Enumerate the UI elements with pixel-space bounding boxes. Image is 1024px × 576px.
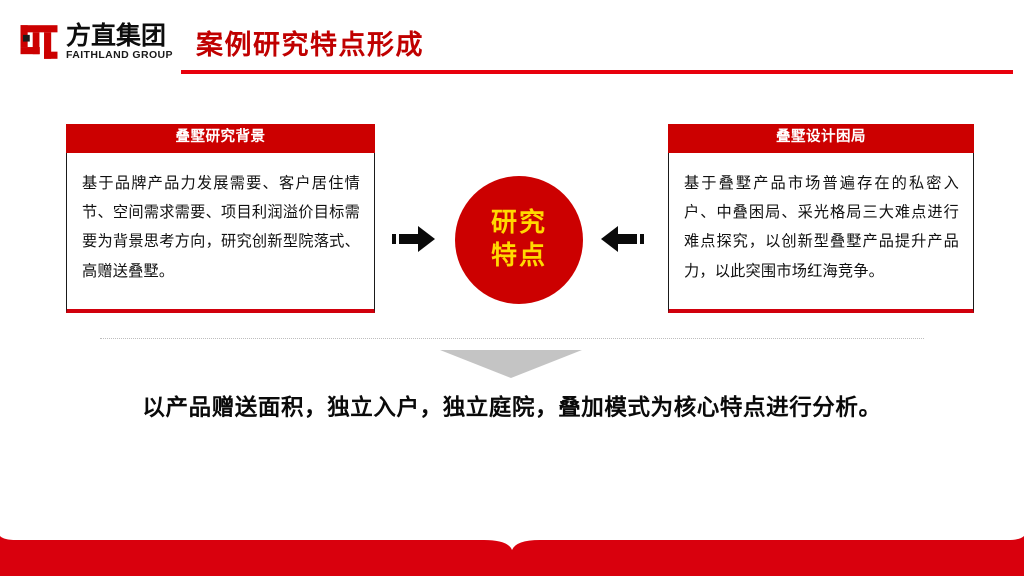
research-background-body: 基于品牌产品力发展需要、客户居住情节、空间需求需要、项目利润溢价目标需要为背景思… xyxy=(66,153,375,313)
research-focus-line2: 特点 xyxy=(491,240,547,273)
arrow-down-icon xyxy=(440,350,582,378)
footer-banner xyxy=(0,530,1024,576)
conclusion-text: 以产品赠送面积，独立入户，独立庭院，叠加模式为核心特点进行分析。 xyxy=(0,390,1024,422)
design-dilemma-header: 叠墅设计困局 xyxy=(668,124,974,153)
page-title: 案例研究特点形成 xyxy=(196,23,424,62)
research-background-header: 叠墅研究背景 xyxy=(66,124,375,153)
section-divider xyxy=(100,338,924,339)
slide-canvas: 方直集团 FAITHLAND GROUP 案例研究特点形成 叠墅研究背景 基于品… xyxy=(0,0,1024,576)
research-focus-circle: 研究 特点 xyxy=(455,176,583,304)
brand-name-cn: 方直集团 xyxy=(66,23,173,49)
brand-name-en: FAITHLAND GROUP xyxy=(66,50,173,62)
brand-logo: 方直集团 FAITHLAND GROUP xyxy=(18,18,178,66)
arrow-left-icon xyxy=(600,224,644,254)
research-background-box: 叠墅研究背景 基于品牌产品力发展需要、客户居住情节、空间需求需要、项目利润溢价目… xyxy=(66,124,375,313)
design-dilemma-box: 叠墅设计困局 基于叠墅产品市场普遍存在的私密入户、中叠困局、采光格局三大难点进行… xyxy=(668,124,974,313)
title-underline-rule xyxy=(181,70,1013,74)
research-focus-line1: 研究 xyxy=(491,207,547,240)
arrow-right-icon xyxy=(392,224,436,254)
brand-text: 方直集团 FAITHLAND GROUP xyxy=(66,23,173,62)
faithland-mark-icon xyxy=(18,21,60,63)
design-dilemma-body: 基于叠墅产品市场普遍存在的私密入户、中叠困局、采光格局三大难点进行难点探究，以创… xyxy=(668,153,974,313)
